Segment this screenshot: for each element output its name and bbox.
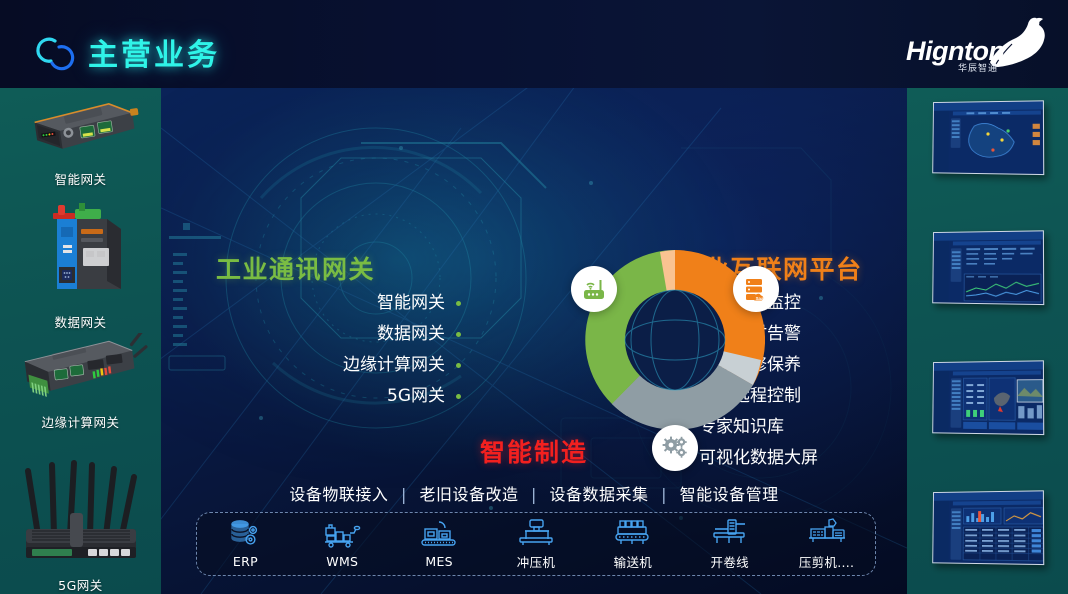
screenshot-map-dashboard[interactable] [931, 101, 1043, 174]
list-item: 边缘计算网关 [171, 350, 461, 381]
strip-item-uncoiling[interactable]: 开卷线 [681, 517, 778, 571]
database-gears-icon [197, 519, 294, 549]
product-edge-gateway[interactable]: 边缘计算网关 [0, 333, 161, 431]
list-item: 数据网关 [171, 319, 461, 350]
uncoiling-line-icon [681, 517, 778, 547]
product-5g-gateway[interactable]: 5G网关 [0, 443, 161, 594]
stamping-machine-icon [488, 517, 585, 547]
product-label: 智能网关 [0, 169, 161, 188]
category-separator: | [661, 485, 667, 504]
strip-item-erp[interactable]: ERP [197, 519, 294, 569]
product-label: 边缘计算网关 [0, 412, 161, 431]
smart-gateway-device [0, 98, 161, 165]
saas-label: SaaS [756, 296, 767, 301]
strip-label: ERP [197, 554, 294, 569]
strip-item-wms[interactable]: WMS [294, 519, 391, 569]
data-gateway-device [0, 193, 161, 308]
screenshot-report-table[interactable] [931, 491, 1043, 564]
list-item: 5G网关 [171, 381, 461, 412]
strip-label: 冲压机 [488, 552, 585, 571]
5g-gateway-router [0, 443, 161, 573]
category-row: 设备物联接入 | 老旧设备改造 | 设备数据采集 | 智能设备管理 [161, 481, 907, 505]
strip-item-stamping[interactable]: 冲压机 [488, 517, 585, 571]
strip-label: 开卷线 [681, 552, 778, 571]
router-wifi-icon [571, 266, 617, 312]
category-separator: | [401, 485, 407, 504]
strip-item-shearing[interactable]: 压剪机.... [778, 517, 875, 571]
left-product-rail: 智能网关 [0, 88, 161, 594]
main-canvas: 工业通讯网关 智能网关 数据网关 边缘计算网关 5G网关 工业互联网平台 数据实… [161, 88, 907, 594]
category-item: 设备数据采集 [550, 485, 649, 504]
smart-manufacturing-title: 智能制造 [161, 433, 907, 469]
product-smart-gateway[interactable]: 智能网关 [0, 98, 161, 188]
strip-label: 输送机 [584, 552, 681, 571]
left-column-title: 工业通讯网关 [216, 250, 375, 286]
slide-root: 工业通讯网关 智能网关 数据网关 边缘计算网关 5G网关 工业互联网平台 数据实… [0, 0, 1068, 594]
donut-chart: SaaS [585, 250, 765, 430]
screenshot-data-monitor[interactable] [931, 231, 1043, 304]
page-title: 主营业务 [88, 30, 220, 74]
shearing-machine-icon [778, 517, 875, 547]
category-item: 智能设备管理 [680, 485, 779, 504]
product-label: 数据网关 [0, 312, 161, 331]
strip-label: WMS [294, 554, 391, 569]
page-header: 主营业务 Hignton 华辰智通 [0, 0, 1068, 88]
edge-computing-gateway-device [0, 333, 161, 408]
interlocking-circles-logo [28, 28, 80, 76]
product-label: 5G网关 [0, 575, 161, 594]
category-item: 设备物联接入 [289, 485, 388, 504]
product-data-gateway[interactable]: 数据网关 [0, 193, 161, 331]
list-item: 智能网关 [171, 288, 461, 319]
category-item: 老旧设备改造 [419, 485, 518, 504]
strip-label: 压剪机.... [778, 552, 875, 571]
strip-item-conveyor[interactable]: 输送机 [584, 517, 681, 571]
production-line-icon [391, 519, 488, 549]
left-column-bullet-list: 智能网关 数据网关 边缘计算网关 5G网关 [171, 288, 461, 412]
screenshot-device-detail[interactable] [931, 361, 1043, 434]
strip-label: MES [391, 554, 488, 569]
conveyor-icon [584, 517, 681, 547]
system-icon-strip: ERP WMS [196, 512, 876, 576]
right-screenshot-rail [907, 88, 1068, 594]
category-separator: | [531, 485, 537, 504]
brand-subtitle: 华辰智通 [958, 61, 998, 74]
saas-server-cloud-icon: SaaS [733, 266, 779, 312]
strip-item-mes[interactable]: MES [391, 519, 488, 569]
warehouse-cart-icon [294, 519, 391, 549]
brand-logo: Hignton 华辰智通 [902, 14, 1050, 76]
